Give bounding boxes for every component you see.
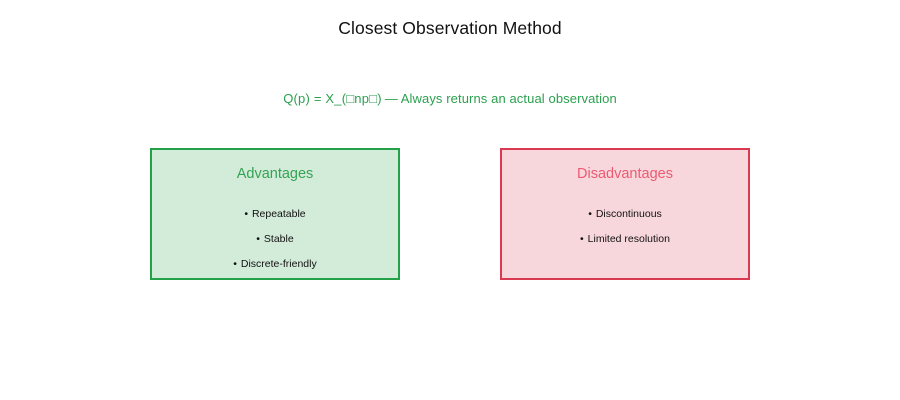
advantages-list: • Repeatable • Stable • Discrete-friendl… bbox=[152, 202, 398, 277]
list-item-label: Repeatable bbox=[252, 208, 306, 220]
bullet-icon: • bbox=[580, 233, 585, 245]
formula-separator-dash: — bbox=[382, 91, 401, 106]
disadvantages-panel: Disadvantages • Discontinuous • Limited … bbox=[500, 148, 750, 280]
bullet-icon: • bbox=[244, 208, 249, 220]
disadvantages-heading: Disadvantages bbox=[502, 166, 748, 182]
disadvantages-list: • Discontinuous • Limited resolution bbox=[502, 202, 748, 252]
list-item-label: Stable bbox=[264, 233, 294, 245]
bullet-icon: • bbox=[588, 208, 593, 220]
bullet-icon: • bbox=[256, 233, 261, 245]
bullet-icon: • bbox=[233, 258, 238, 270]
advantages-panel: Advantages • Repeatable • Stable • Discr… bbox=[150, 148, 400, 280]
page-title: Closest Observation Method bbox=[0, 18, 900, 39]
list-item: • Discontinuous bbox=[502, 202, 748, 227]
formula-line: Q(p) = X_(□np□)—Always returns an actual… bbox=[0, 91, 900, 106]
formula-expression: Q(p) = X_(□np□) bbox=[283, 91, 382, 106]
list-item: • Limited resolution bbox=[502, 227, 748, 252]
list-item: • Repeatable bbox=[152, 202, 398, 227]
advantages-heading: Advantages bbox=[152, 166, 398, 182]
list-item-label: Limited resolution bbox=[588, 233, 670, 245]
slide-canvas: Closest Observation Method Q(p) = X_(□np… bbox=[0, 0, 900, 400]
list-item: • Discrete-friendly bbox=[152, 252, 398, 277]
list-item-label: Discrete-friendly bbox=[241, 258, 317, 270]
list-item: • Stable bbox=[152, 227, 398, 252]
list-item-label: Discontinuous bbox=[596, 208, 662, 220]
formula-note: Always returns an actual observation bbox=[401, 91, 617, 106]
